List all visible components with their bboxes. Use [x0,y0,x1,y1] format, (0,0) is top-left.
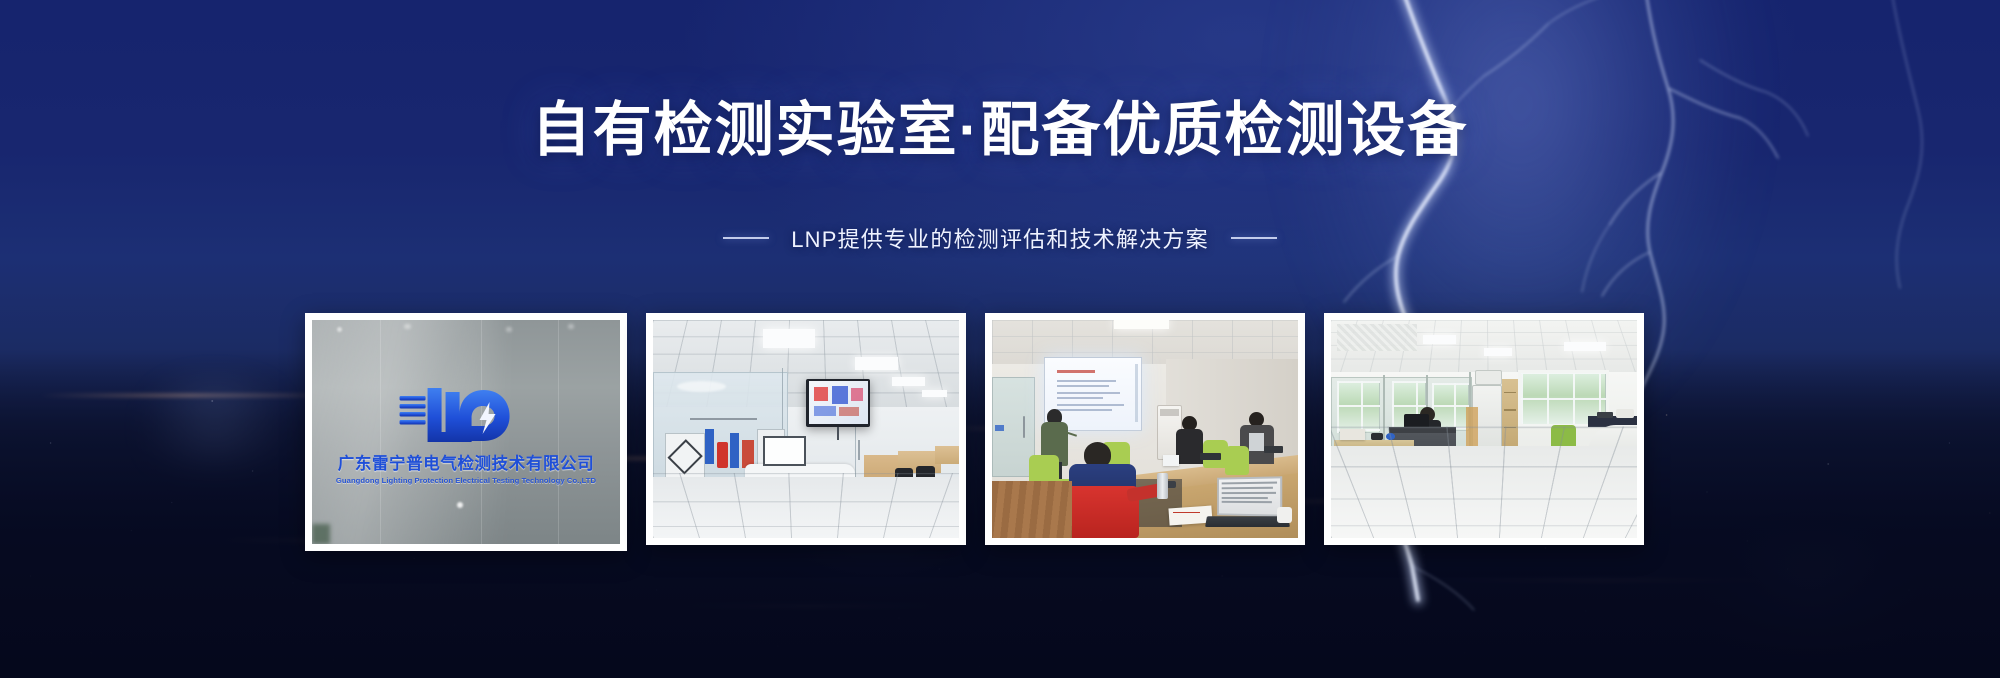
door-sticker [995,425,1004,432]
partition-reflection [677,381,726,392]
card-company-sign[interactable]: 广东雷宁普电气检测技术有限公司 Guangdong Lighting Prote… [305,313,627,551]
person-body [1176,429,1204,464]
foreground-plant [312,524,330,544]
photo-meeting-room [992,320,1298,538]
headline-container: 自有检测实验室·配备优质检测设备 [0,96,2000,166]
ceiling-vent [1337,324,1417,350]
ceiling-light [855,357,898,370]
wood-desk [935,446,959,463]
monitor-mount [837,427,839,440]
page-subtitle: LNP提供专业的检测评估和技术解决方案 [791,222,1209,254]
ceiling-light [1423,335,1457,344]
wall-spot [506,327,512,332]
ceiling-light [922,390,946,398]
counter-item [1597,412,1612,419]
wood-floor [992,481,1072,538]
dash-right-decoration [1231,237,1277,239]
hero-banner: 自有检测实验室·配备优质检测设备 LNP提供专业的检测评估和技术解决方案 [0,0,2000,678]
equipment-cylinder [717,442,728,468]
tablet-device [1264,446,1282,453]
lnp-logo-icon [398,380,534,446]
equipment-rail [690,418,757,420]
wall-spot [337,327,342,332]
chair-green [1225,446,1249,474]
person-shirt [1249,433,1264,450]
laptop-screen [1218,476,1283,517]
ac-vent [1160,409,1178,416]
equipment-column [730,433,739,468]
red-pen [1173,512,1201,514]
company-logo-block: 广东雷宁普电气检测技术有限公司 Guangdong Lighting Prote… [334,380,599,485]
ceiling-light [763,329,815,349]
paper-document [1163,455,1178,466]
photo-laboratory [653,320,959,538]
console-monitor [763,436,806,467]
cup [1277,507,1292,522]
card-laboratory[interactable] [646,313,966,545]
card-office-area[interactable] [1324,313,1644,545]
photo-company-sign: 广东雷宁普电气检测技术有限公司 Guangdong Lighting Prote… [312,320,620,544]
lab-pole [858,440,860,460]
card-meeting-room[interactable] [985,313,1305,545]
dash-left-decoration [723,237,769,239]
photo-office-area [1331,320,1637,538]
door-handle [1023,416,1025,438]
ceiling-light [892,377,926,387]
company-name-cn: 广东雷宁普电气检测技术有限公司 [334,450,599,474]
wall-ac-unit [1475,370,1503,385]
page-title: 自有检测实验室·配备优质检测设备 [532,96,1469,166]
company-name-en: Guangdong Lighting Protection Electrical… [334,476,599,485]
slide-title [1057,370,1095,373]
ceiling-light [1484,348,1512,356]
thermos-cup [1157,473,1168,499]
wall-monitor [806,379,870,427]
ceiling-light [1564,342,1607,351]
slide-scrollbar [1135,364,1138,422]
counter-item [1616,409,1634,418]
equipment-column [705,429,714,464]
ceiling-light [1114,320,1169,329]
tablet-device [1200,453,1221,460]
subtitle-container: LNP提供专业的检测评估和技术解决方案 [0,222,2000,254]
wall-reflection [457,502,463,508]
